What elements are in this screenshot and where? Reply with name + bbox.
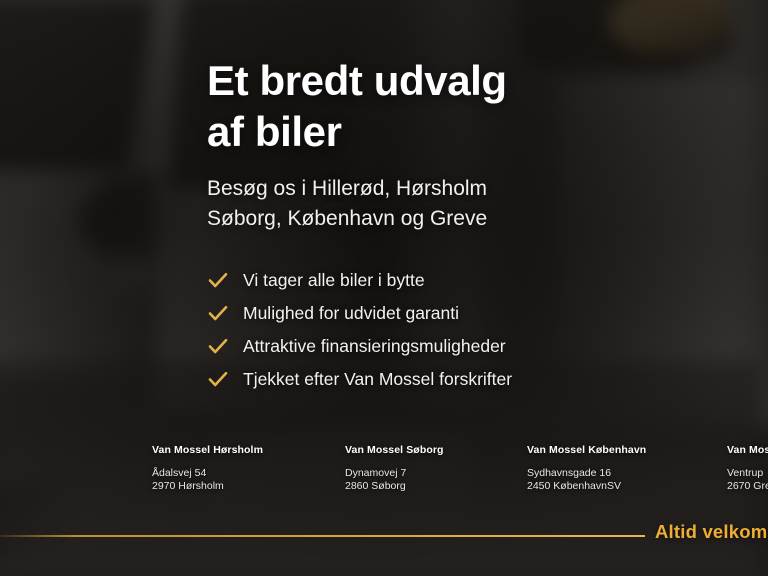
gold-divider-rule: [0, 535, 645, 537]
promo-banner: Et bredt udvalg af biler Besøg os i Hill…: [0, 0, 768, 576]
feature-item: Attraktive finansieringsmuligheder: [207, 330, 512, 362]
dealer-name: Van Mossel Søborg: [345, 443, 535, 457]
dealer-name: Van Mossel Hørsholm: [152, 443, 342, 457]
dealer-address: Ventrup 2670 Gre: [727, 467, 768, 493]
check-icon: [207, 335, 229, 357]
dealer-horsholm: Van Mossel Hørsholm Ådalsvej 54 2970 Hør…: [152, 443, 342, 493]
dealer-kobenhavn: Van Mossel København Sydhavnsgade 16 245…: [527, 443, 717, 493]
banner-tagline: Altid velkommen: [655, 521, 768, 543]
dealer-name: Van Mos: [727, 443, 768, 457]
dealer-name: Van Mossel København: [527, 443, 717, 457]
dealer-greve: Van Mos Ventrup 2670 Gre: [727, 443, 768, 493]
feature-item: Vi tager alle biler i bytte: [207, 264, 512, 296]
feature-label: Vi tager alle biler i bytte: [243, 269, 425, 291]
dealer-address: Dynamovej 7 2860 Søborg: [345, 467, 535, 493]
feature-label: Tjekket efter Van Mossel forskrifter: [243, 368, 512, 390]
feature-label: Attraktive finansieringsmuligheder: [243, 335, 506, 357]
banner-content: Et bredt udvalg af biler Besøg os i Hill…: [0, 0, 768, 576]
feature-list: Vi tager alle biler i bytte Mulighed for…: [207, 264, 512, 396]
dealer-hillerod: ossel Hillerød lsvej 2 llerød: [0, 443, 118, 493]
dealer-address: Sydhavnsgade 16 2450 KøbenhavnSV: [527, 467, 717, 493]
dealer-name: ossel Hillerød: [0, 443, 118, 457]
check-icon: [207, 302, 229, 324]
dealer-address: Ådalsvej 54 2970 Hørsholm: [152, 467, 342, 493]
check-icon: [207, 269, 229, 291]
banner-headline: Et bredt udvalg af biler: [207, 55, 727, 157]
dealer-location-list: ossel Hillerød lsvej 2 llerød Van Mossel…: [0, 443, 768, 503]
feature-item: Mulighed for udvidet garanti: [207, 297, 512, 329]
check-icon: [207, 368, 229, 390]
feature-label: Mulighed for udvidet garanti: [243, 302, 459, 324]
dealer-soborg: Van Mossel Søborg Dynamovej 7 2860 Søbor…: [345, 443, 535, 493]
feature-item: Tjekket efter Van Mossel forskrifter: [207, 363, 512, 395]
dealer-address: lsvej 2 llerød: [0, 467, 118, 493]
banner-subheadline: Besøg os i Hillerød, Hørsholm Søborg, Kø…: [207, 174, 687, 234]
